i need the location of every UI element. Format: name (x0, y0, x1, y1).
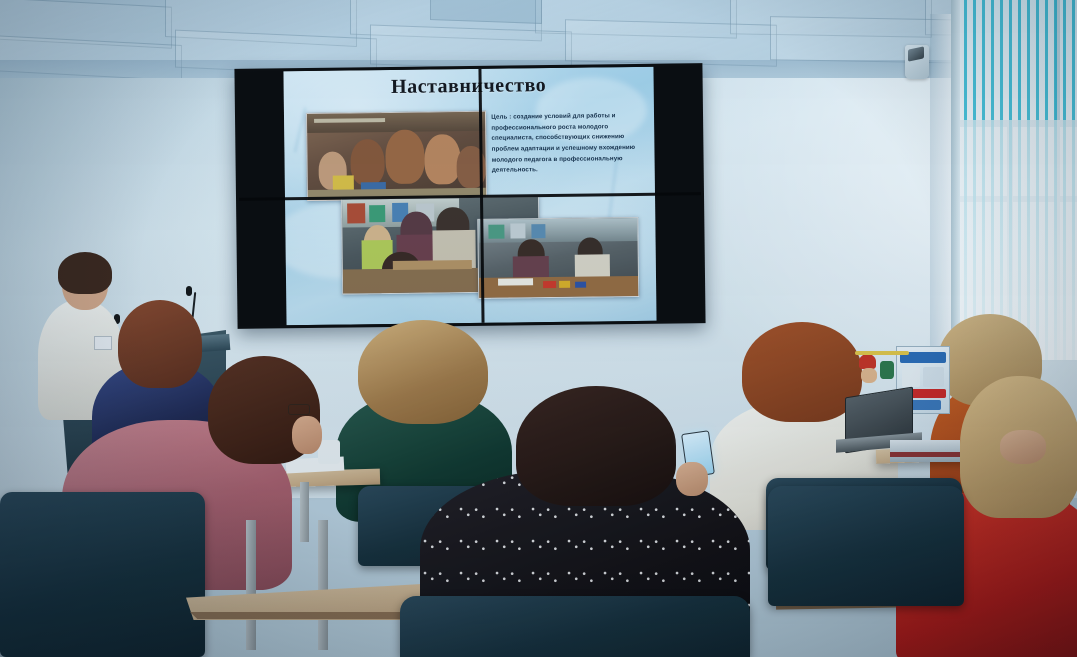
mug (318, 440, 340, 464)
stacked-books (890, 440, 960, 462)
window-frame (951, 0, 960, 360)
microphone-head-icon (186, 286, 192, 296)
presenter-badge (94, 336, 112, 350)
slide-title: Наставничество (284, 73, 654, 101)
audience-glasses-icon (288, 404, 310, 415)
audience-hair-black-bob (516, 386, 676, 506)
book-spine (890, 452, 960, 457)
window (955, 0, 1077, 360)
chair-front-right[interactable] (768, 486, 964, 606)
slide-photo-children (306, 111, 487, 201)
table-leg-3 (300, 482, 309, 542)
audience-hand (292, 416, 322, 454)
slide-photo-crafts (478, 217, 640, 299)
chair-front-center[interactable] (400, 596, 750, 657)
video-wall-screen: Наставничество Цель : создание условий д… (237, 66, 702, 326)
audience-hand-phone (676, 462, 708, 496)
chair-back-left[interactable] (0, 492, 205, 657)
audience-hair-auburn (118, 300, 202, 388)
presenter-hair (58, 252, 112, 294)
audience-shoulder-hand (1000, 430, 1046, 464)
video-wall[interactable]: Наставничество Цель : создание условий д… (234, 63, 705, 329)
slide-body-text: Цель : создание условий для работы и про… (491, 111, 640, 177)
table-leg-2 (318, 520, 328, 650)
audience-hair-blonde-wavy (358, 320, 488, 424)
photo-scene: Наставничество Цель : создание условий д… (0, 0, 1077, 657)
table-leg-1 (246, 520, 256, 650)
audience-hair-auburn-bob (742, 322, 862, 422)
